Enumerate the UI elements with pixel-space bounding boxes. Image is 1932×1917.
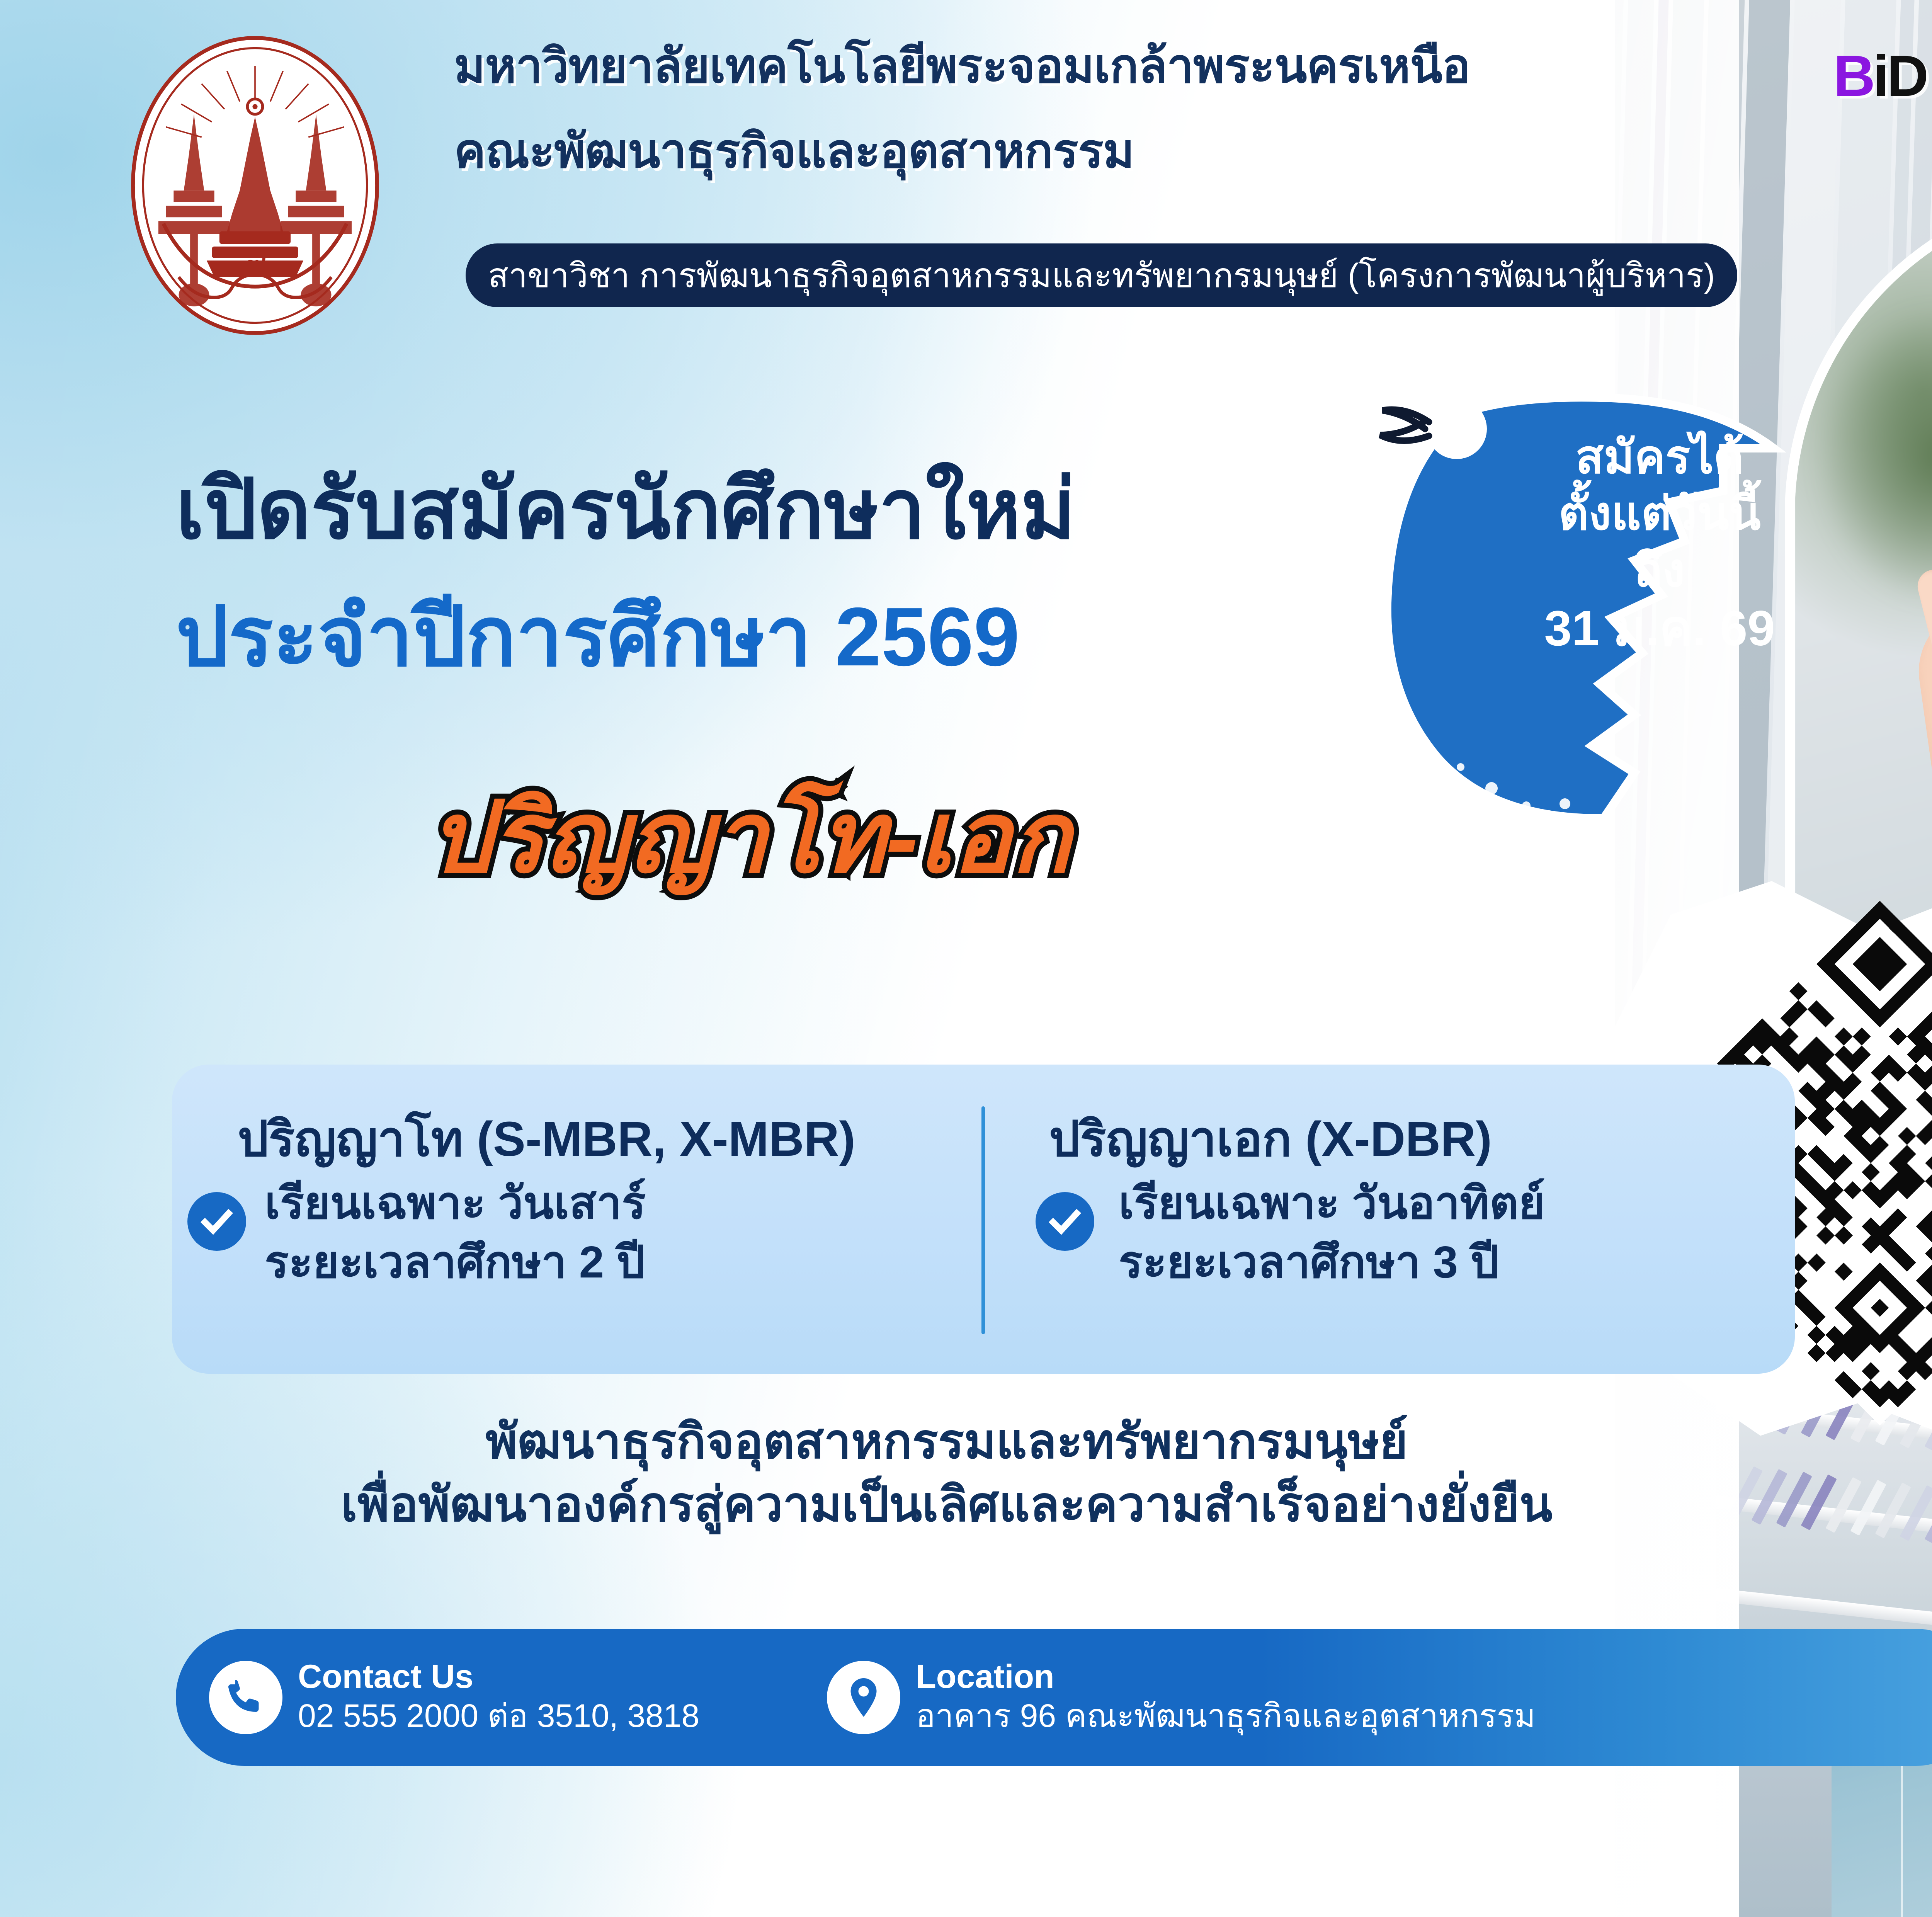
check-icon xyxy=(1036,1192,1094,1251)
tagline-line-1: พัฒนาธุรกิจอุตสาหกรรมและทรัพยากรมนุษย์ xyxy=(0,1410,1893,1473)
contact-phone-title: Contact Us xyxy=(298,1659,699,1694)
university-seal-icon: ๙ xyxy=(128,33,383,338)
program-column-masters: ปริญญาโท (S-MBR, X-MBR) เรียนเฉพาะ วันเส… xyxy=(172,1065,980,1374)
program-detail-2: ระยะเวลาศึกษา 3 ปี xyxy=(1119,1233,1545,1292)
tag-deadline-date: 31 ม.ค. 69 xyxy=(1468,599,1851,659)
bid-logo: BiD xyxy=(1833,43,1932,109)
tagline-block: พัฒนาธุรกิจอุตสาหกรรมและทรัพยากรมนุษย์ เ… xyxy=(0,1410,1893,1536)
map-pin-icon xyxy=(827,1661,900,1734)
panel-divider xyxy=(981,1106,985,1334)
tag-line-3: ถึง xyxy=(1468,542,1851,599)
check-icon xyxy=(187,1192,246,1251)
program-column-doctoral: ปริญญาเอก (X-DBR) เรียนเฉพาะ วันอาทิตย์ … xyxy=(1007,1065,1795,1374)
program-details-doctoral: เรียนเฉพาะ วันอาทิตย์ ระยะเวลาศึกษา 3 ปี xyxy=(1119,1174,1545,1292)
university-name: มหาวิทยาลัยเทคโนโลยีพระจอมเกล้าพระนครเหน… xyxy=(454,43,1470,90)
contact-phone-value: 02 555 2000 ต่อ 3510, 3818 xyxy=(298,1696,699,1735)
phone-icon xyxy=(209,1661,282,1734)
faculty-name: คณะพัฒนาธุรกิจและอุตสาหกรรม xyxy=(454,128,1134,175)
program-details-masters: เรียนเฉพาะ วันเสาร์ ระยะเวลาศึกษา 2 ปี xyxy=(265,1174,646,1292)
program-detail-2: ระยะเวลาศึกษา 2 ปี xyxy=(265,1233,646,1292)
contact-location-item[interactable]: Location อาคาร 96 คณะพัฒนาธุรกิจและอุตสา… xyxy=(827,1659,1536,1735)
poster-canvas: ๙ มหาวิทยาลัยเทคโนโลยีพระจอมเกล้าพระนครเ… xyxy=(0,0,1932,1917)
application-period-tag: สมัครได้ ตั้งแต่วันนี้ ถึง 31 ม.ค. 69 xyxy=(1341,340,1905,827)
contact-location-text: Location อาคาร 96 คณะพัฒนาธุรกิจและอุตสา… xyxy=(916,1659,1536,1735)
headline-line-2: ประจำปีการศึกษา 2569 xyxy=(176,595,1020,678)
bid-logo-b: B xyxy=(1833,43,1873,109)
tag-text-block: สมัครได้ ตั้งแต่วันนี้ ถึง 31 ม.ค. 69 xyxy=(1468,429,1851,659)
tag-line-2: ตั้งแต่วันนี้ xyxy=(1468,485,1851,542)
contact-bar: Contact Us 02 555 2000 ต่อ 3510, 3818 Lo… xyxy=(176,1629,1932,1766)
bid-logo-id: iD xyxy=(1873,43,1926,109)
contact-location-title: Location xyxy=(916,1659,1536,1694)
degree-headline: ปริญญาโท-เอก xyxy=(429,788,1071,887)
program-detail-1: เรียนเฉพาะ วันอาทิตย์ xyxy=(1119,1174,1545,1233)
svg-text:๙: ๙ xyxy=(243,244,267,282)
contact-phone-text: Contact Us 02 555 2000 ต่อ 3510, 3818 xyxy=(298,1659,699,1735)
tagline-line-2: เพื่อพัฒนาองค์กรสู่ความเป็นเลิศและความสำ… xyxy=(0,1473,1893,1536)
program-title-masters: ปริญญาโท (S-MBR, X-MBR) xyxy=(238,1100,855,1177)
tag-line-1: สมัครได้ xyxy=(1468,429,1851,485)
subject-badge: สาขาวิชา การพัฒนาธุรกิจอุตสาหกรรมและทรัพ… xyxy=(466,243,1737,307)
program-info-panel: ปริญญาโท (S-MBR, X-MBR) เรียนเฉพาะ วันเส… xyxy=(172,1065,1795,1374)
program-title-doctoral: ปริญญาเอก (X-DBR) xyxy=(1049,1100,1492,1177)
program-detail-1: เรียนเฉพาะ วันเสาร์ xyxy=(265,1174,646,1233)
contact-phone-item[interactable]: Contact Us 02 555 2000 ต่อ 3510, 3818 xyxy=(209,1659,699,1735)
contact-location-value: อาคาร 96 คณะพัฒนาธุรกิจและอุตสาหกรรม xyxy=(916,1696,1536,1735)
headline-line-1: เปิดรับสมัครนักศึกษาใหม่ xyxy=(176,468,1075,551)
